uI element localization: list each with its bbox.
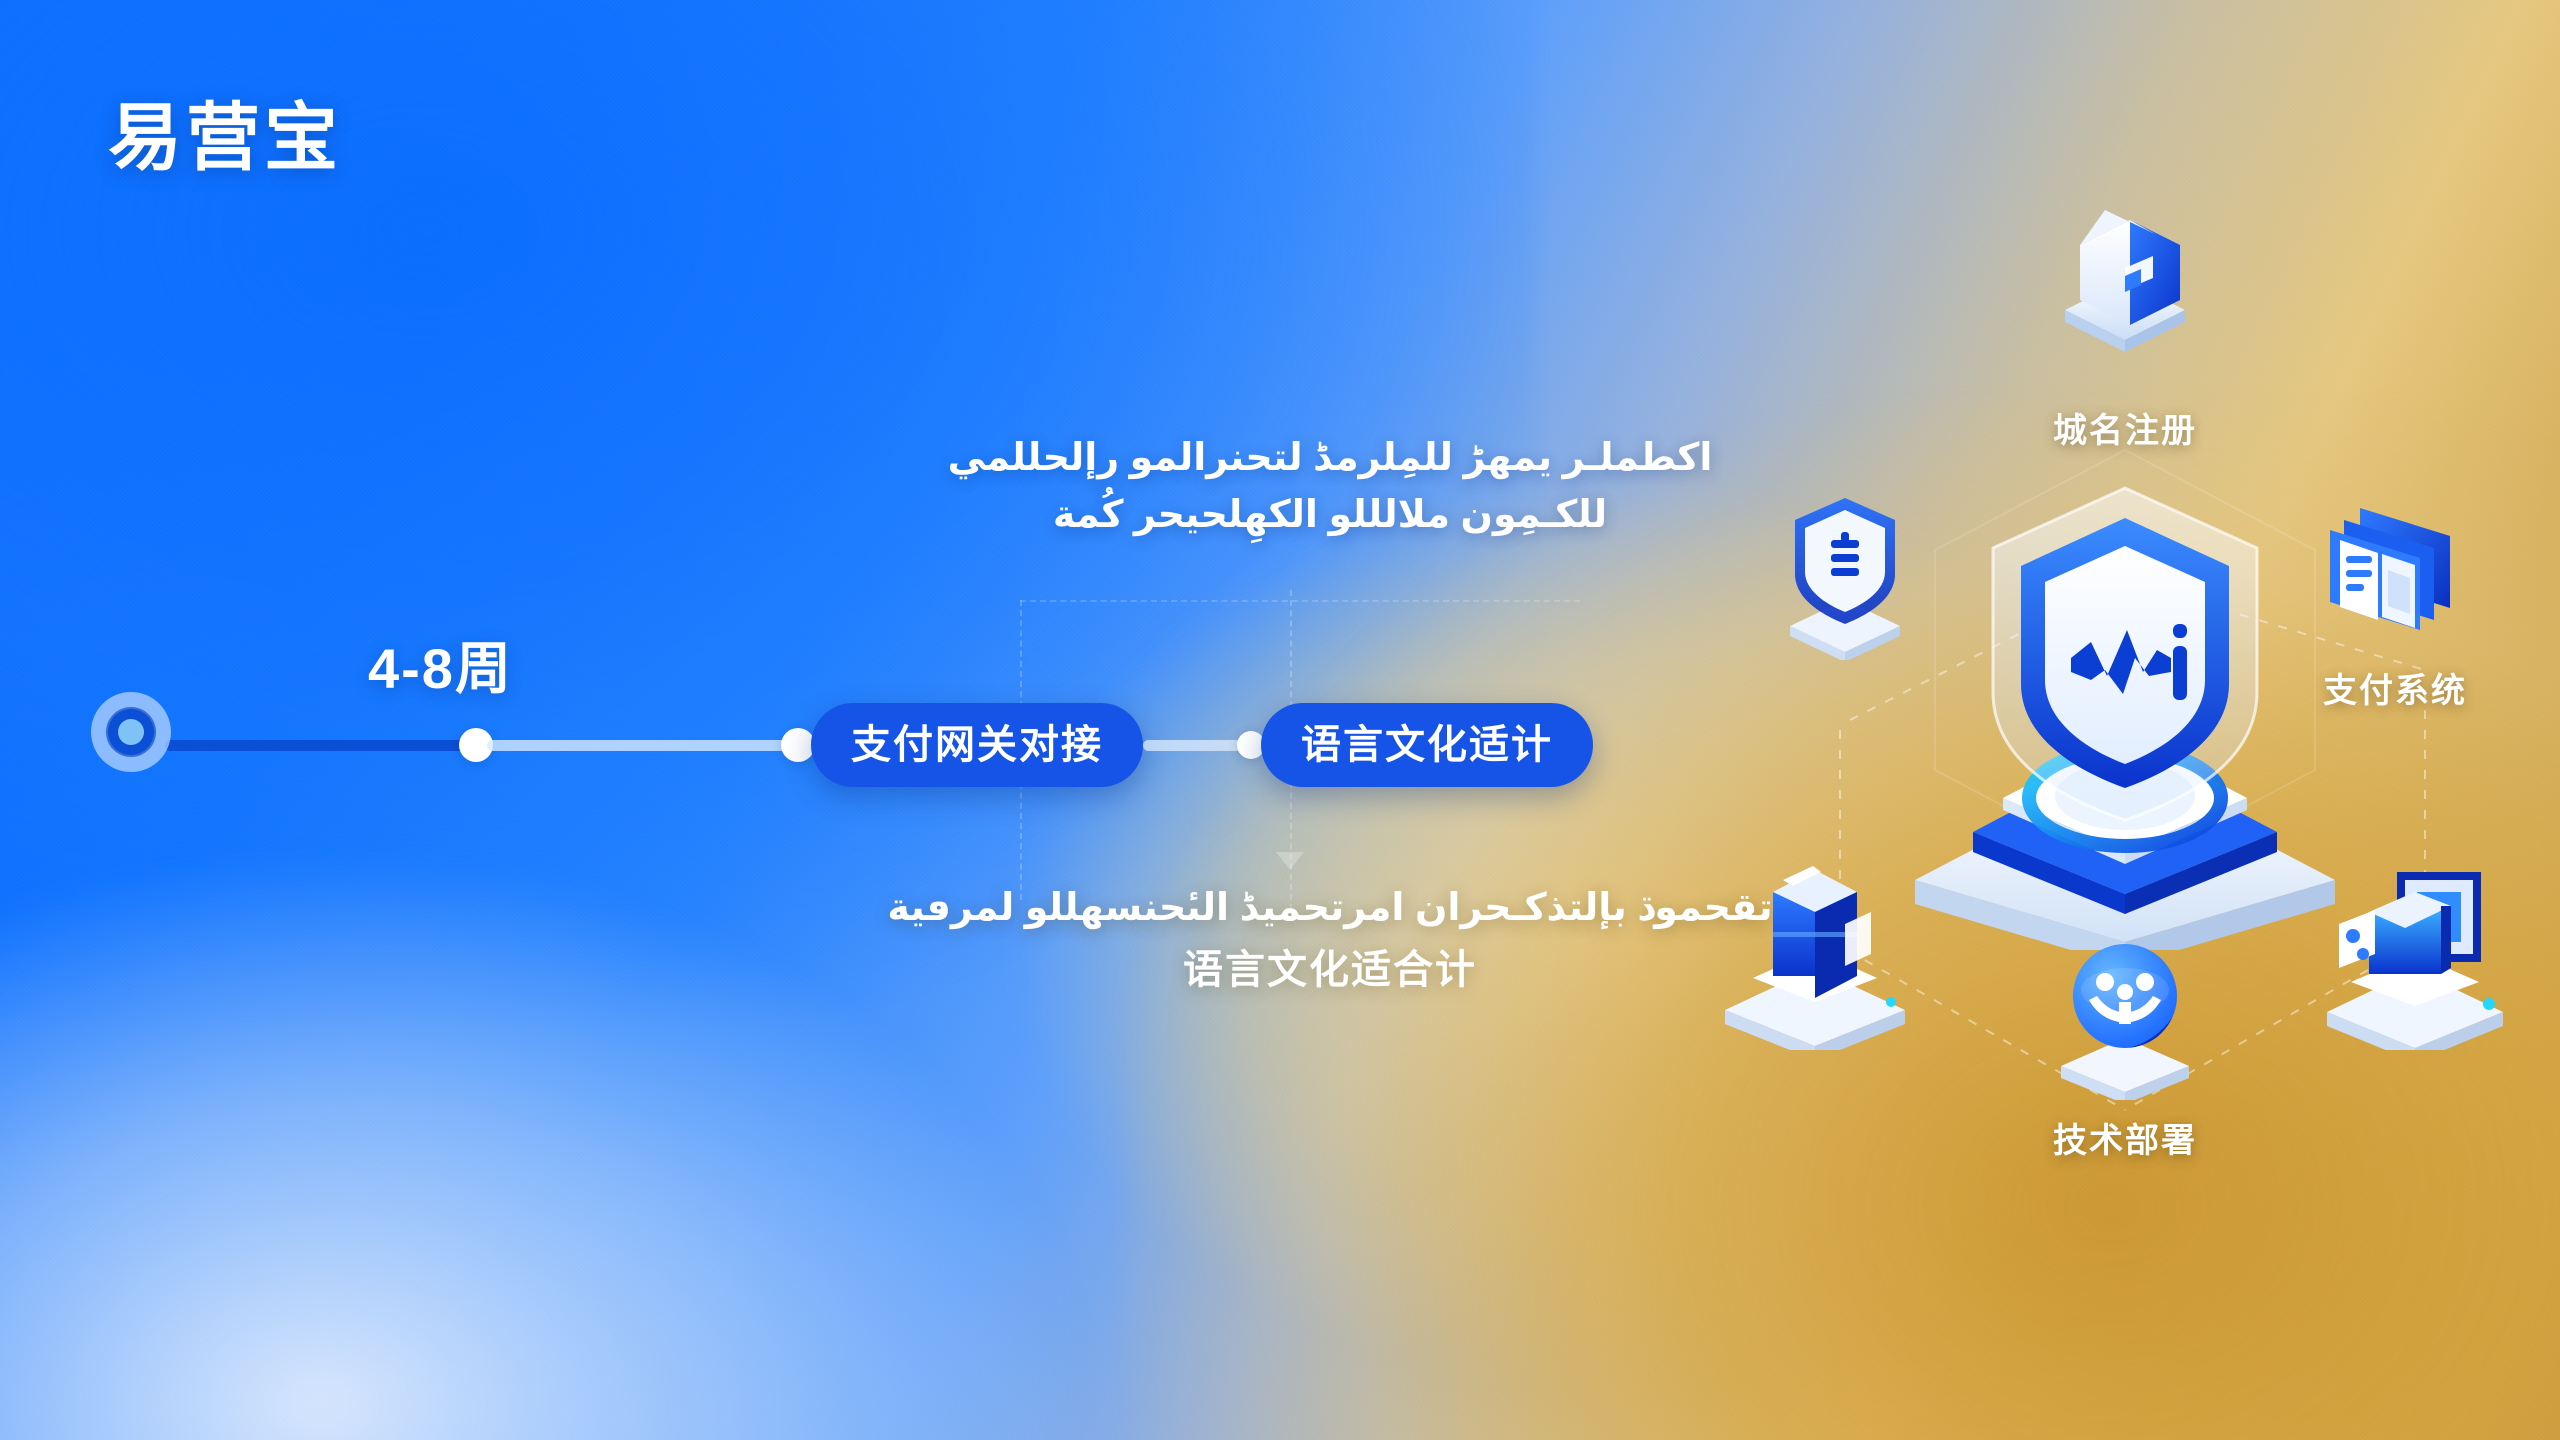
illustration-node-device[interactable]: [2300, 850, 2530, 1055]
page-title: 易营宝: [108, 78, 342, 185]
tech-sphere-icon: [2035, 930, 2215, 1100]
top-arabic-line-2: للكـمِون ملالللو الكهِلحيحر كُمة: [880, 487, 1780, 544]
top-arabic-line-1: اكطملـر يمهڑ للمِلرمڈ لتحنرالمو رإلحللمي: [880, 430, 1780, 487]
illustration-node-tech-label: 技术部署: [2000, 1113, 2250, 1162]
device-screen-icon: [2305, 850, 2525, 1050]
illustration-node-tech[interactable]: 技术部署: [2000, 930, 2250, 1162]
illustration-center-shield[interactable]: [1885, 480, 2365, 955]
start-node-core: [118, 719, 144, 745]
project-timeline: 4-8周 支付网关对接 语言文化适计: [118, 690, 1758, 800]
timeline-track: 支付网关对接 语言文化适计: [118, 732, 1758, 758]
timeline-milestone-dot-2[interactable]: [781, 728, 815, 762]
timeline-segment-3: [1143, 740, 1247, 751]
bottom-description-block: تقحموڌ بإلتذكـحران امرتحميڈ الٮٔحنسهللو …: [880, 880, 1780, 995]
server-cube-icon: [1705, 850, 1925, 1050]
shield-icon: [1885, 480, 2365, 950]
bottom-arabic-line: تقحموڌ بإلتذكـحران امرتحميڈ الٮٔحنسهللو …: [880, 880, 1780, 937]
timeline-stage-payment-gateway[interactable]: 支付网关对接: [811, 703, 1143, 787]
timeline-stage-language-culture[interactable]: 语言文化适计: [1261, 703, 1593, 787]
bottom-chinese-line: 语言文化适合计: [880, 937, 1780, 995]
illustration-node-domain-label: 城名注册: [1990, 403, 2260, 452]
top-description-block: اكطملـر يمهڑ للمِلرمڈ لتحنرالمو رإلحللمي…: [880, 430, 1780, 544]
domain-house-icon: [2025, 190, 2225, 390]
illustration-node-domain[interactable]: 城名注册: [1990, 190, 2260, 452]
timeline-segment-1: [165, 740, 465, 751]
slide-canvas: 易营宝 اكطملـر يمهڑ للمِلرمڈ لتحنرالمو رإلح…: [0, 0, 2560, 1440]
illustration-node-server[interactable]: [1700, 850, 1930, 1055]
isometric-illustration: 城名注册 支: [1690, 250, 2560, 1330]
timeline-duration-label: 4-8周: [368, 624, 513, 705]
guide-arrow-down: [1276, 852, 1304, 870]
timeline-start-node[interactable]: [91, 692, 171, 772]
timeline-segment-2: [487, 740, 787, 751]
